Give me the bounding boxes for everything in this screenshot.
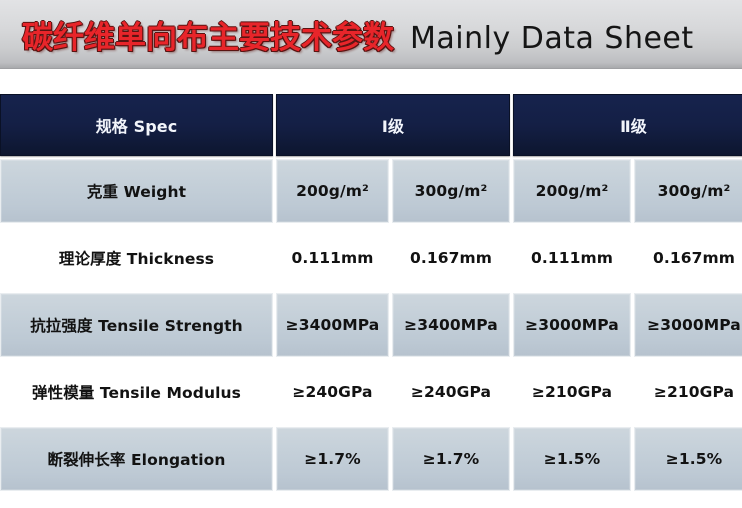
cell-tensile-strength-grade1-200: ≥3400MPa: [276, 293, 389, 357]
cell-tensile-strength-grade2-200: ≥3000MPa: [513, 293, 631, 357]
table-row: 抗拉强度 Tensile Strength ≥3400MPa ≥3400MPa …: [0, 293, 742, 357]
cell-weight-grade1-300: 300g/m²: [392, 159, 510, 223]
spec-table-body: 克重 Weight 200g/m² 300g/m² 200g/m² 300g/m…: [0, 159, 742, 491]
table-row: 理论厚度 Thickness 0.111mm 0.167mm 0.111mm 0…: [0, 226, 742, 290]
table-row: 弹性模量 Tensile Modulus ≥240GPa ≥240GPa ≥21…: [0, 360, 742, 424]
header-cell-grade-1: Ⅰ级: [276, 94, 510, 156]
cell-thickness-grade1-200: 0.111mm: [276, 226, 389, 290]
table-header-row: 规格 Spec Ⅰ级 Ⅱ级: [0, 94, 742, 156]
row-label-elongation: 断裂伸长率 Elongation: [0, 427, 273, 491]
cell-thickness-grade1-300: 0.167mm: [392, 226, 510, 290]
header-cell-spec: 规格 Spec: [0, 94, 273, 156]
spec-table-head: 规格 Spec Ⅰ级 Ⅱ级: [0, 94, 742, 156]
row-label-tensile-modulus: 弹性模量 Tensile Modulus: [0, 360, 273, 424]
cell-elongation-grade2-200: ≥1.5%: [513, 427, 631, 491]
row-label-thickness: 理论厚度 Thickness: [0, 226, 273, 290]
spec-table-container: 规格 Spec Ⅰ级 Ⅱ级 克重 Weight 200g/m² 300g/m² …: [0, 69, 742, 508]
cell-tensile-strength-grade1-300: ≥3400MPa: [392, 293, 510, 357]
cell-weight-grade2-200: 200g/m²: [513, 159, 631, 223]
cell-tensile-modulus-grade2-200: ≥210GPa: [513, 360, 631, 424]
title-banner: 碳纤维单向布主要技术参数 Mainly Data Sheet: [0, 0, 742, 69]
table-row: 断裂伸长率 Elongation ≥1.7% ≥1.7% ≥1.5% ≥1.5%: [0, 427, 742, 491]
cell-elongation-grade1-200: ≥1.7%: [276, 427, 389, 491]
table-row: 克重 Weight 200g/m² 300g/m² 200g/m² 300g/m…: [0, 159, 742, 223]
cell-tensile-modulus-grade2-300: ≥210GPa: [634, 360, 742, 424]
header-cell-grade-2: Ⅱ级: [513, 94, 742, 156]
row-label-weight: 克重 Weight: [0, 159, 273, 223]
title-banner-inner: 碳纤维单向布主要技术参数 Mainly Data Sheet: [22, 12, 694, 57]
cell-elongation-grade2-300: ≥1.5%: [634, 427, 742, 491]
page-title-chinese: 碳纤维单向布主要技术参数: [22, 12, 394, 57]
cell-weight-grade2-300: 300g/m²: [634, 159, 742, 223]
cell-weight-grade1-200: 200g/m²: [276, 159, 389, 223]
cell-thickness-grade2-200: 0.111mm: [513, 226, 631, 290]
spec-table: 规格 Spec Ⅰ级 Ⅱ级 克重 Weight 200g/m² 300g/m² …: [0, 91, 742, 494]
cell-tensile-modulus-grade1-200: ≥240GPa: [276, 360, 389, 424]
cell-elongation-grade1-300: ≥1.7%: [392, 427, 510, 491]
page-title-english: Mainly Data Sheet: [410, 21, 694, 56]
row-label-tensile-strength: 抗拉强度 Tensile Strength: [0, 293, 273, 357]
cell-thickness-grade2-300: 0.167mm: [634, 226, 742, 290]
cell-tensile-strength-grade2-300: ≥3000MPa: [634, 293, 742, 357]
cell-tensile-modulus-grade1-300: ≥240GPa: [392, 360, 510, 424]
